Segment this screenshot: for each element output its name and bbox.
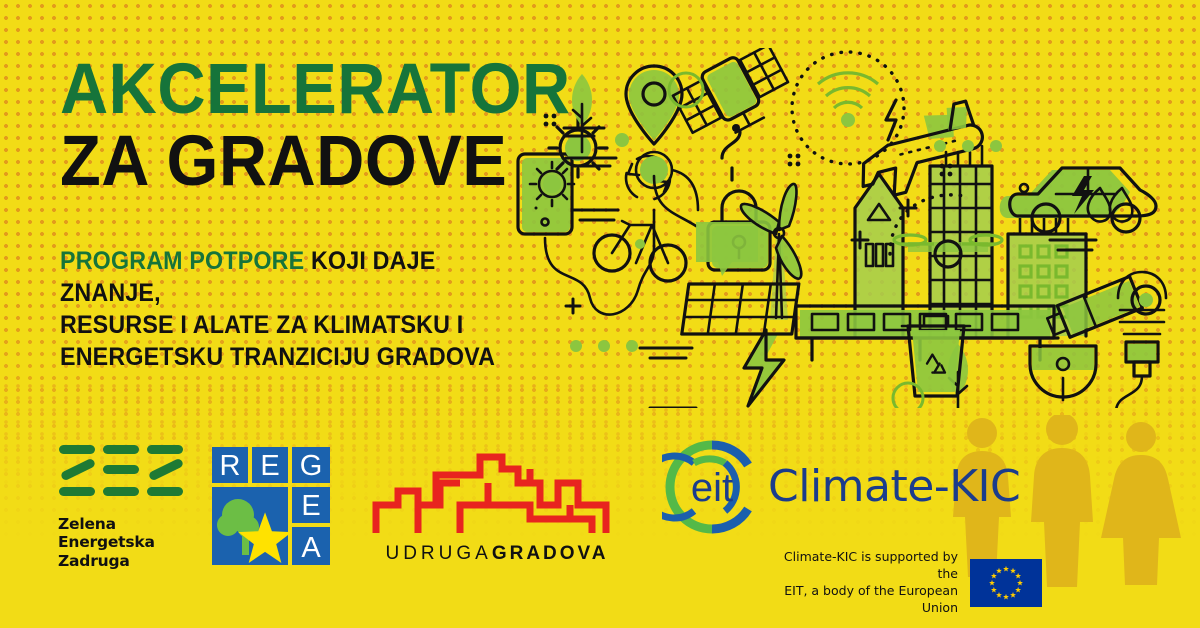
udruga-word-light: UDRUGA [385,543,491,564]
logo-regea[interactable]: R E G E A [212,447,330,565]
decorative-circles [669,73,923,408]
bicycle-icon [594,221,686,281]
support-line-1: Climate-KIC is supported by the [770,549,958,583]
headline-block: AKCELERATOR ZA GRADOVE [60,56,580,196]
cable-path-2 [654,176,696,226]
smart-city-illustration: .ln { fill:none; stroke:#111; stroke-wid… [500,48,1200,408]
udruga-word-bold: GRADOVA [492,543,609,564]
climate-kic-support-text: Climate-KIC is supported by the EIT, a b… [770,549,958,617]
zez-name: Zelena Energetska Zadruga [58,515,208,570]
zez-bars-mark [58,445,183,507]
zez-name-line-1: Zelena [58,515,208,533]
node-icon [636,152,672,188]
svg-text:R: R [220,450,241,482]
subheadline-highlight: PROGRAM POTPORE [60,247,304,275]
zez-name-line-3: Zadruga [58,552,208,570]
eit-circle-mark: eit [662,437,762,537]
svg-text:E: E [301,490,320,522]
building-icon [855,174,903,336]
headline-line-2: ZA GRADOVE [60,128,549,196]
satellite-icon [670,48,797,150]
solar-panel-icon [682,284,799,334]
decorative-green-dots [570,133,1002,352]
promotional-banner: AKCELERATOR ZA GRADOVE PROGRAM POTPORE K… [0,0,1200,628]
skyscraper-icon [930,146,992,336]
decorative-marks [536,128,916,358]
plug-icon [1030,346,1096,400]
lightning-bolt-icon [886,100,896,140]
udruga-gradova-wordmark: UDRUGAGRADOVA [372,543,622,565]
subheadline-line-3: ENERGETSKU TRANZICIJU GRADOVA [60,343,495,371]
svg-text:E: E [260,450,279,482]
red-skyline-mark [372,447,614,537]
recycle-icon [626,156,670,200]
recycle-bin-icon [902,316,970,396]
subheadline-block: PROGRAM POTPORE KOJI DAJE ZNANJE, RESURS… [60,245,525,373]
zez-name-line-2: Energetska [58,533,208,551]
logo-zez[interactable]: Zelena Energetska Zadruga [58,445,208,570]
headline-line-1: AKCELERATOR [60,56,549,124]
leaf-icon-2 [948,344,968,408]
logo-row: Zelena Energetska Zadruga [0,425,1200,595]
regea-mark: R E G E A [212,447,330,565]
cable-path [545,210,654,315]
decorative-dots [544,114,953,177]
flame-icon [1088,188,1132,221]
support-line-2: EIT, a body of the European Union [770,583,958,617]
cfl-bulb-icon [1116,272,1166,408]
wind-turbine-icon [741,184,801,320]
logo-eit-climate-kic[interactable]: eit Climate-KIC Climate-KIC is supported… [662,437,1042,617]
location-pin-icon [626,66,682,144]
wifi-icon [792,52,904,164]
airplane-icon [849,99,991,202]
eit-mark-text: eit [691,466,733,510]
battery-icon [1044,276,1160,342]
svg-text:A: A [301,532,321,564]
european-union-flag [970,559,1042,607]
svg-text:G: G [300,450,323,482]
electric-car-icon [1000,168,1156,232]
cable-path-3 [672,170,698,210]
padlock-icon [708,191,770,270]
lightning-bolt-icon-2 [744,330,784,406]
building-icon-2 [1008,218,1086,336]
logo-udruga-gradova[interactable]: UDRUGAGRADOVA [372,447,622,565]
climate-kic-wordmark: Climate-KIC [768,465,1020,509]
tram-icon [796,306,1058,360]
decorative-dashes [572,210,1096,408]
drone-icon [890,195,1002,267]
subheadline-line-2: RESURSE I ALATE ZA KLIMATSKU I [60,311,463,339]
info-bubble-icon [696,124,758,276]
